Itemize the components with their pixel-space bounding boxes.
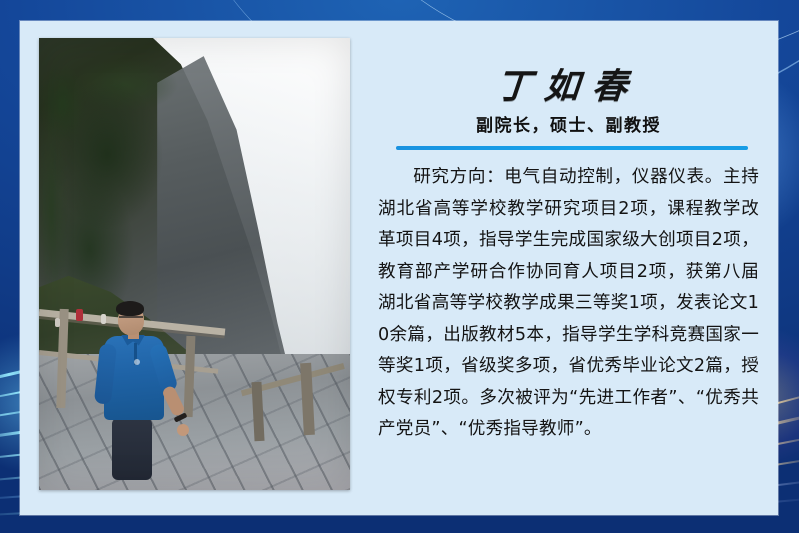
photo-cliff-far (157, 56, 294, 390)
photo-vignette (39, 38, 350, 490)
content-panel: 丁如春 副院长，硕士、副教授 研究方向：电气自动控制，仪器仪表。主持湖北省高等学… (20, 21, 778, 515)
photo-railing-post-r2 (251, 381, 264, 440)
photo-subject-arm-left (94, 344, 117, 405)
person-title: 副院长，硕士、副教授 (378, 111, 759, 136)
person-name: 丁如春 (376, 58, 761, 109)
photo-distant-person-2 (101, 314, 106, 324)
photo-mist (157, 38, 350, 363)
photo-subject-forearm-right (161, 385, 186, 418)
info-column: 丁如春 副院长，硕士、副教授 研究方向：电气自动控制，仪器仪表。主持湖北省高等学… (378, 38, 759, 490)
photo-railing-mid (39, 350, 219, 374)
photo-distant-person-1 (76, 309, 83, 321)
photo-subject-placket (134, 343, 137, 365)
photo-subject-arm-right (148, 342, 178, 393)
photo-subject-head (118, 305, 144, 335)
photo-path-joints-2 (39, 354, 350, 490)
photo-railing-post-3 (184, 336, 196, 418)
photo-subject-glasses (119, 316, 143, 324)
photo-hillside (39, 273, 188, 409)
photo-subject-shirt-logo (134, 359, 140, 365)
person-bio: 研究方向：电气自动控制，仪器仪表。主持湖北省高等学校教学研究项目2项，课程教学改… (378, 162, 759, 446)
photo-subject-hand-right (177, 424, 189, 436)
photo-subject-neck (128, 330, 139, 339)
photo-sky (39, 38, 350, 490)
portrait-photo (39, 38, 350, 490)
photo-railing-right (241, 364, 345, 397)
photo-path-joints (39, 354, 350, 490)
photo-distant-person-3 (55, 318, 60, 327)
photo-subject-collar (121, 335, 145, 346)
photo-subject-torso (104, 336, 164, 420)
photo-railing-post-2 (125, 323, 137, 414)
title-divider (396, 146, 748, 150)
photo-stone-path (39, 354, 350, 490)
slide-root: 丁如春 副院长，硕士、副教授 研究方向：电气自动控制，仪器仪表。主持湖北省高等学… (0, 0, 799, 533)
photo-railing-post-1 (56, 309, 68, 409)
photo-vegetation (39, 47, 201, 363)
photo-subject-hair (116, 301, 144, 316)
photo-cliff (39, 38, 288, 382)
photo-railing-top (39, 309, 225, 335)
photo-subject-legs (112, 418, 152, 480)
photo-railing-post-r (300, 363, 315, 436)
photo-subject-watch (173, 412, 187, 422)
